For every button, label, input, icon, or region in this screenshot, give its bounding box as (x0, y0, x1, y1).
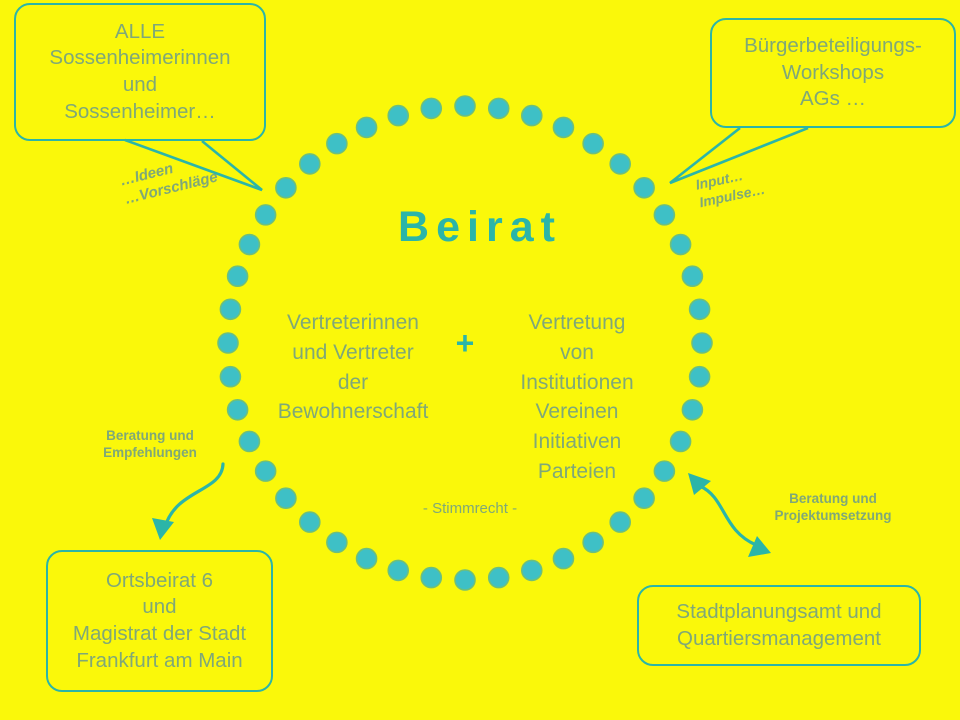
arrowhead-down-left (152, 518, 174, 540)
arrowhead-up-left (688, 473, 711, 495)
diagram-canvas: Beirat Vertreterinnen und Vertreter der … (0, 0, 960, 720)
ring-dot (455, 96, 475, 116)
plus-icon: + (440, 327, 490, 359)
annotation-ideen-vorschlaege: …Ideen …Vorschläge (118, 149, 220, 209)
ring-dot (357, 117, 377, 137)
ring-dot (553, 549, 573, 569)
ring-dot (489, 568, 509, 588)
ring-dot (357, 549, 377, 569)
ring-dot (634, 488, 654, 508)
ring-dot (300, 512, 320, 532)
ring-dot (682, 400, 702, 420)
ring-dot (455, 570, 475, 590)
box-ortsbeirat[interactable]: Ortsbeirat 6 und Magistrat der Stadt Fra… (46, 550, 273, 692)
ring-dot (522, 106, 542, 126)
ring-dot (421, 98, 441, 118)
ring-dot (522, 560, 542, 580)
center-column-left: Vertreterinnen und Vertreter der Bewohne… (268, 308, 438, 427)
annotation-beratung-empfehlungen: Beratung und Empfehlungen (80, 427, 220, 462)
ring-dot (610, 154, 630, 174)
speech-bubble-residents[interactable]: ALLE Sossenheimerinnen und Sossenheimer… (14, 3, 266, 141)
speech-bubble-workshops-text: Bürgerbeteiligungs- Workshops AGs … (736, 33, 930, 113)
ring-dot (388, 106, 408, 126)
ring-dot (218, 333, 238, 353)
center-footnote: - Stimmrecht - (330, 500, 610, 517)
ring-dot (276, 178, 296, 198)
ring-dot (583, 134, 603, 154)
box-stadtplanungsamt[interactable]: Stadtplanungsamt und Quartiersmanagement (637, 585, 921, 666)
ring-dot (220, 299, 240, 319)
annotation-beratung-projektumsetzung: Beratung und Projektumsetzung (748, 490, 918, 525)
speech-bubble-residents-text: ALLE Sossenheimerinnen und Sossenheimer… (41, 19, 238, 126)
ring-dot (220, 367, 240, 387)
ring-dot (610, 512, 630, 532)
ring-dot (327, 532, 347, 552)
box-stadtplanungsamt-text: Stadtplanungsamt und Quartiersmanagement (668, 599, 889, 652)
ring-dot (276, 488, 296, 508)
ring-dot (690, 299, 710, 319)
ring-dot (583, 532, 603, 552)
ring-dot (388, 560, 408, 580)
speech-bubble-workshops[interactable]: Bürgerbeteiligungs- Workshops AGs … (710, 18, 956, 128)
ring-dot (489, 98, 509, 118)
ring-dot (256, 461, 276, 481)
box-ortsbeirat-text: Ortsbeirat 6 und Magistrat der Stadt Fra… (65, 568, 254, 675)
ring-dot (228, 266, 248, 286)
ring-dot (421, 568, 441, 588)
arrowhead-down-right (748, 536, 771, 557)
ring-dot (553, 117, 573, 137)
ring-dot (327, 134, 347, 154)
ring-dot (300, 154, 320, 174)
center-column-right: Vertretung von Institutionen Vereinen In… (492, 308, 662, 487)
ring-dot (634, 178, 654, 198)
ring-dot (228, 400, 248, 420)
arrow-beratung-empfehlungen (165, 464, 223, 527)
ring-dot (239, 431, 259, 451)
ring-dot (692, 333, 712, 353)
ring-dot (671, 431, 691, 451)
page-title: Beirat (0, 203, 960, 252)
ring-dot (682, 266, 702, 286)
ring-dot (690, 367, 710, 387)
